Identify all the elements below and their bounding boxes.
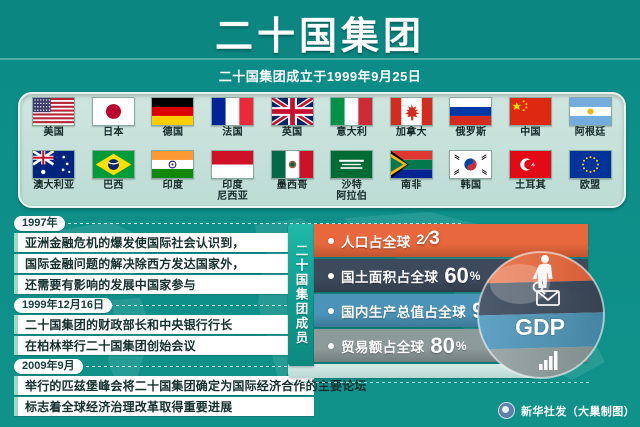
flag-cell-br[interactable]: 巴西: [84, 150, 144, 203]
flag-cell-kr[interactable]: 韩国: [441, 150, 501, 203]
flag-cell-eu[interactable]: 欧盟: [560, 150, 620, 203]
timeline-text: 还需要有影响的发展中国家参与: [18, 276, 196, 293]
bullet-icon: [328, 273, 334, 279]
flag-cell-cn[interactable]: 中国: [501, 97, 561, 150]
flag-label: 韩国: [461, 181, 482, 192]
flag-icon-kr: [449, 150, 492, 179]
flag-label: 印度 尼西亚: [217, 181, 248, 202]
globe-graphic: GDP: [466, 240, 616, 390]
flag-label: 沙特 阿拉伯: [336, 181, 367, 202]
flag-label: 美国: [43, 128, 64, 139]
stats-panel-label-text: 二十国集团成员: [292, 244, 311, 346]
credit: 新华社发（大巢制图）: [498, 402, 635, 419]
flag-cell-tr[interactable]: 土耳其: [501, 150, 561, 203]
flag-panel: 美国日本德国法国 英国意大利 加拿大俄罗斯 中国 阿根廷 澳大利亚: [18, 92, 626, 208]
flag-cell-ar[interactable]: 阿根廷: [560, 97, 620, 150]
timeline-event: 2009年9月举行的匹兹堡峰会将二十国集团确定为国际经济合作的主要论坛标志着全球…: [14, 359, 314, 416]
timeline-text: 标志着全球经济治理改革取得重要进展: [18, 398, 232, 415]
page-subtitle: 二十国集团成立于1999年9月25日: [0, 66, 640, 85]
flag-icon-gb: [271, 97, 314, 126]
timeline-text: 在柏林举行二十国集团创始会议: [18, 337, 196, 354]
flag-label: 英国: [282, 128, 303, 139]
flag-cell-ru[interactable]: 俄罗斯: [441, 97, 501, 150]
flag-row-2: 澳大利亚 巴西 印度印度 尼西亚 墨西哥 沙特 阿拉伯 南非: [24, 150, 620, 203]
flag-label: 意大利: [336, 128, 367, 139]
flag-label: 阿根廷: [575, 128, 606, 139]
stat-unit: %: [456, 339, 467, 353]
flag-icon-mx: [271, 150, 314, 179]
gdp-label: GDP: [515, 314, 565, 340]
flag-icon-in: [151, 150, 194, 179]
timeline-date-badge: 1997年: [14, 216, 65, 231]
flag-label: 加拿大: [396, 128, 427, 139]
flag-label: 中国: [520, 128, 541, 139]
timeline-date-badge: 2009年9月: [14, 359, 83, 374]
flag-label: 澳大利亚: [33, 181, 74, 192]
timeline-text-line: 国际金融问题的解决除西方发达国家外，: [14, 254, 314, 273]
flag-cell-id[interactable]: 印度 尼西亚: [203, 150, 263, 203]
flag-cell-za[interactable]: 南非: [382, 150, 442, 203]
flag-label: 欧盟: [580, 181, 601, 192]
flag-label: 日本: [103, 128, 124, 139]
timeline: 1997年亚洲金融危机的爆发使国际社会认识到，国际金融问题的解决除西方发达国家外…: [14, 216, 314, 420]
flag-icon-it: [330, 97, 373, 126]
stat-label: 国土面积占全球: [341, 266, 438, 286]
stat-label: 人口占全球: [341, 231, 411, 251]
flag-icon-fr: [211, 97, 254, 126]
stat-label: 国内生产总值占全球: [341, 301, 466, 321]
flag-icon-de: [151, 97, 194, 126]
bullet-icon: [328, 238, 334, 244]
flag-cell-ca[interactable]: 加拿大: [382, 97, 442, 150]
flag-cell-it[interactable]: 意大利: [322, 97, 382, 150]
stats-panel-label: 二十国集团成员: [288, 224, 314, 366]
flag-cell-sa[interactable]: 沙特 阿拉伯: [322, 150, 382, 203]
credit-text: 新华社发（大巢制图）: [521, 403, 635, 419]
infographic-root: 二十国集团 二十国集团成立于1999年9月25日 美国日本德国法国 英国意大利 …: [0, 0, 640, 427]
stat-label: 贸易额占全球: [341, 336, 424, 356]
flag-label: 印度: [163, 181, 184, 192]
timeline-event: 1997年亚洲金融危机的爆发使国际社会认识到，国际金融问题的解决除西方发达国家外…: [14, 216, 314, 294]
flag-cell-de[interactable]: 德国: [143, 97, 203, 150]
flag-label: 巴西: [103, 181, 124, 192]
timeline-text-line: 二十国集团的财政部长和中央银行行长: [14, 315, 314, 334]
timeline-text: 举行的匹兹堡峰会将二十国集团确定为国际经济合作的主要论坛: [18, 377, 367, 394]
timeline-text-line: 亚洲金融危机的爆发使国际社会认识到，: [14, 233, 314, 252]
timeline-text: 国际金融问题的解决除西方发达国家外，: [18, 255, 245, 272]
bullet-icon: [328, 343, 334, 349]
timeline-date-row: 1997年: [14, 216, 314, 231]
stat-value: 80: [430, 335, 454, 357]
flag-cell-us[interactable]: 美国: [24, 97, 84, 150]
flag-cell-jp[interactable]: 日本: [84, 97, 144, 150]
flag-cell-fr[interactable]: 法国: [203, 97, 263, 150]
flag-icon-tr: [509, 150, 552, 179]
header-divider: [0, 58, 640, 60]
flag-cell-in[interactable]: 印度: [143, 150, 203, 203]
flag-cell-mx[interactable]: 墨西哥: [262, 150, 322, 203]
flag-icon-us: [32, 97, 75, 126]
timeline-text-line: 举行的匹兹堡峰会将二十国集团确定为国际经济合作的主要论坛: [14, 376, 314, 395]
flag-icon-id: [211, 150, 254, 179]
flag-icon-au: [32, 150, 75, 179]
flag-icon-jp: [92, 97, 135, 126]
page-title: 二十国集团: [0, 5, 640, 60]
timeline-text: 亚洲金融危机的爆发使国际社会认识到，: [18, 234, 245, 251]
flag-label: 俄罗斯: [456, 128, 487, 139]
timeline-date-row: 2009年9月: [14, 359, 314, 374]
flag-icon-cn: [509, 97, 552, 126]
timeline-text-line: 标志着全球经济治理改革取得重要进展: [14, 397, 314, 416]
flag-label: 法国: [222, 128, 243, 139]
xinhua-logo-icon: [498, 402, 515, 419]
stat-value: 2⁄3: [417, 228, 440, 251]
timeline-text-line: 还需要有影响的发展中国家参与: [14, 275, 314, 294]
timeline-date-badge: 1999年12月16日: [14, 298, 112, 313]
flag-label: 德国: [163, 128, 184, 139]
flag-label: 南非: [401, 181, 422, 192]
flag-cell-gb[interactable]: 英国: [262, 97, 322, 150]
flag-row-1: 美国日本德国法国 英国意大利 加拿大俄罗斯 中国 阿根廷: [24, 97, 620, 150]
flag-icon-ca: [390, 97, 433, 126]
timeline-event: 1999年12月16日二十国集团的财政部长和中央银行行长在柏林举行二十国集团创始…: [14, 298, 314, 355]
bullet-icon: [328, 308, 334, 314]
timeline-date-row: 1999年12月16日: [14, 298, 314, 313]
flag-label: 土耳其: [515, 181, 546, 192]
timeline-text: 二十国集团的财政部长和中央银行行长: [18, 316, 232, 333]
flag-cell-au[interactable]: 澳大利亚: [24, 150, 84, 203]
flag-label: 墨西哥: [277, 181, 308, 192]
flag-icon-ar: [569, 97, 612, 126]
flag-icon-za: [390, 150, 433, 179]
timeline-text-line: 在柏林举行二十国集团创始会议: [14, 336, 314, 355]
flag-icon-eu: [569, 150, 612, 179]
flag-icon-br: [92, 150, 135, 179]
flag-icon-sa: [330, 150, 373, 179]
flag-icon-ru: [449, 97, 492, 126]
